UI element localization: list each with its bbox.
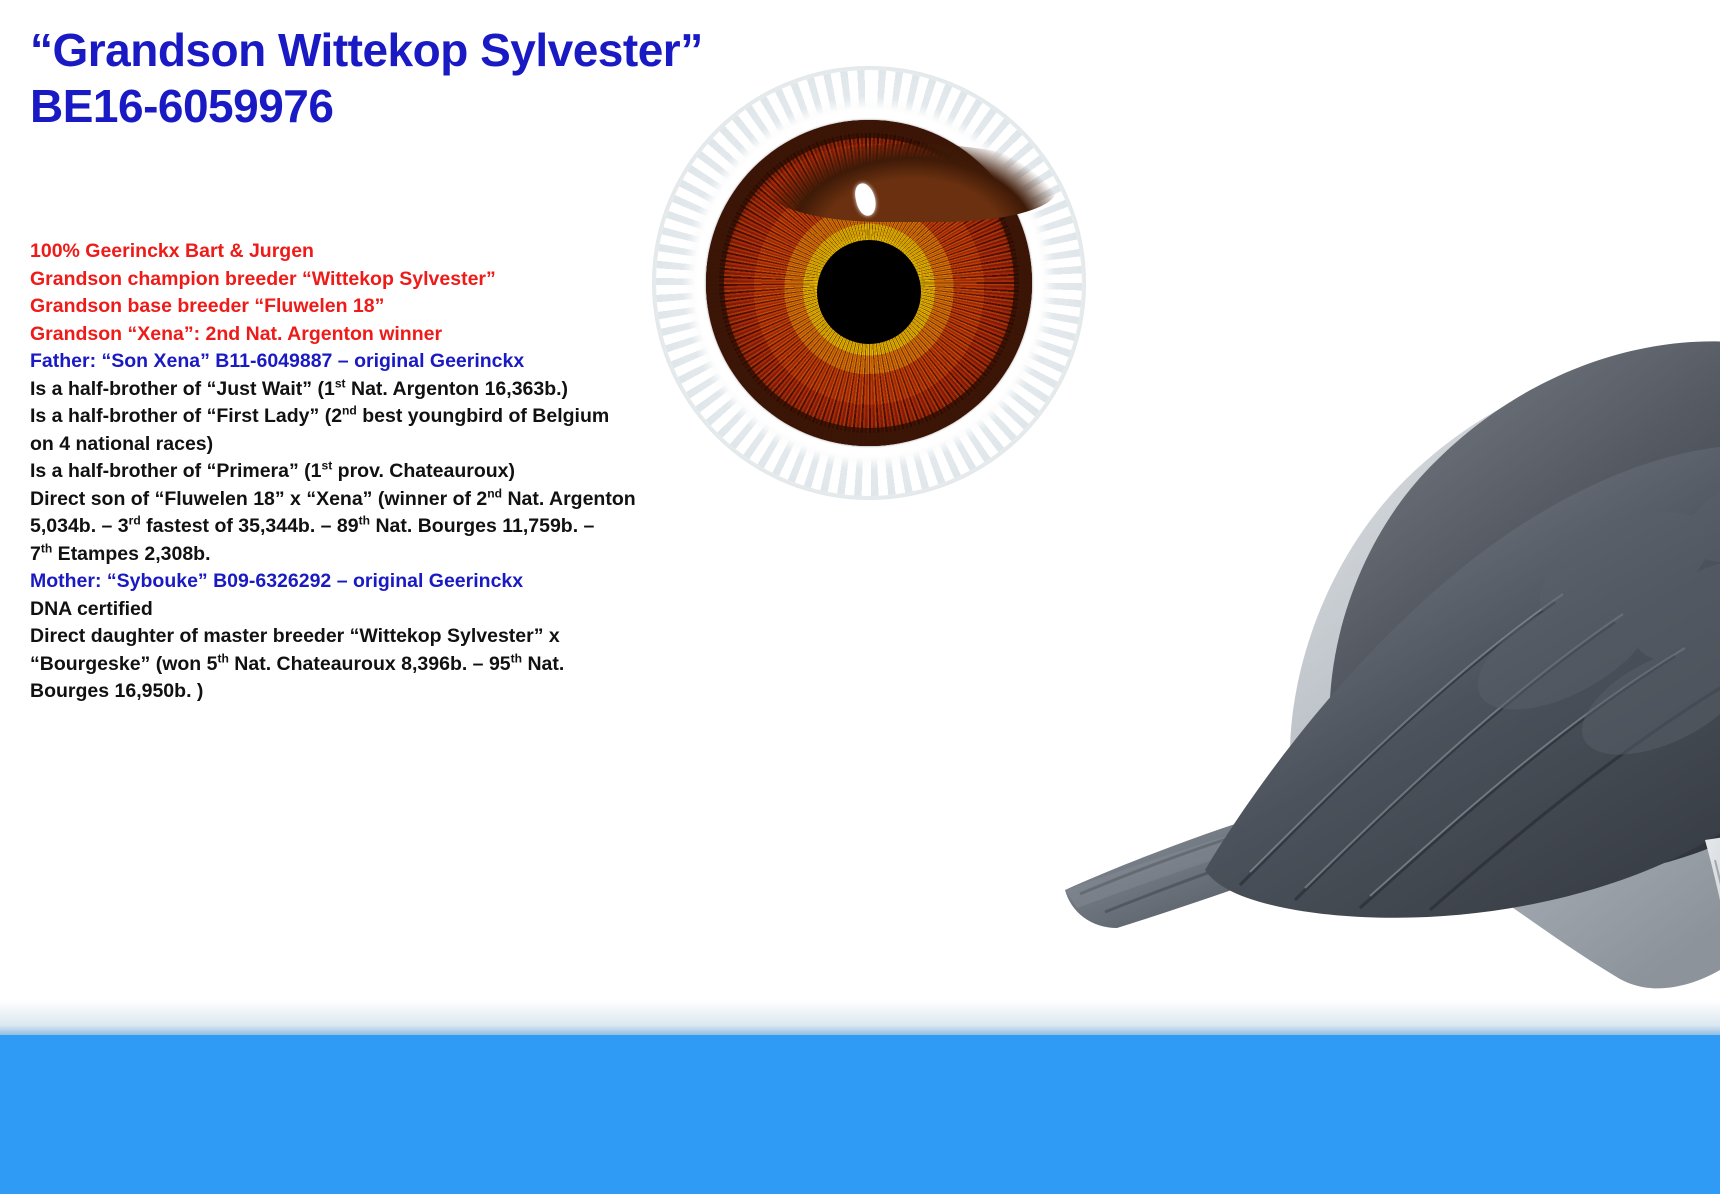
pigeon-eye-photo xyxy=(652,66,1086,500)
pedigree-line-9: Is a half-brother of “Primera” (1st prov… xyxy=(30,458,690,486)
pedigree-line-7: Is a half-brother of “First Lady” (2nd b… xyxy=(30,403,690,431)
pedigree-line-15: Direct daughter of master breeder “Witte… xyxy=(30,623,690,651)
pedigree-line-5: Father: “Son Xena” B11-6049887 – origina… xyxy=(30,348,690,376)
footer-bar: Herbots www.herbots.com Original Verbeek… xyxy=(0,1035,1720,1194)
pedigree-line-10: Direct son of “Fluwelen 18” x “Xena” (wi… xyxy=(30,486,690,514)
pedigree-line-13: Mother: “Sybouke” B09-6326292 – original… xyxy=(30,568,690,596)
pedigree-line-14: DNA certified xyxy=(30,596,690,624)
pedigree-line-4: Grandson “Xena”: 2nd Nat. Argenton winne… xyxy=(30,321,690,349)
pedigree-line-6: Is a half-brother of “Just Wait” (1st Na… xyxy=(30,376,690,404)
pedigree-line-11: 5,034b. – 3rd fastest of 35,344b. – 89th… xyxy=(30,513,690,541)
footer-fade-divider xyxy=(0,1000,1720,1035)
pedigree-line-8: on 4 national races) xyxy=(30,431,690,459)
pedigree-line-16: “Bourgeske” (won 5th Nat. Chateauroux 8,… xyxy=(30,651,690,679)
pedigree-line-2: Grandson champion breeder “Wittekop Sylv… xyxy=(30,266,690,294)
eye-upper-lid xyxy=(769,144,1055,222)
pedigree-text: 100% Geerinckx Bart & JurgenGrandson cha… xyxy=(30,238,690,706)
pedigree-card: “Grandson Wittekop Sylvester” BE16-60599… xyxy=(0,0,1720,1194)
pedigree-line-12: 7th Etampes 2,308b. xyxy=(30,541,690,569)
eye-pupil xyxy=(817,240,921,344)
pedigree-line-3: Grandson base breeder “Fluwelen 18” xyxy=(30,293,690,321)
pedigree-line-17: Bourges 16,950b. ) xyxy=(30,678,690,706)
pedigree-line-1: 100% Geerinckx Bart & Jurgen xyxy=(30,238,690,266)
